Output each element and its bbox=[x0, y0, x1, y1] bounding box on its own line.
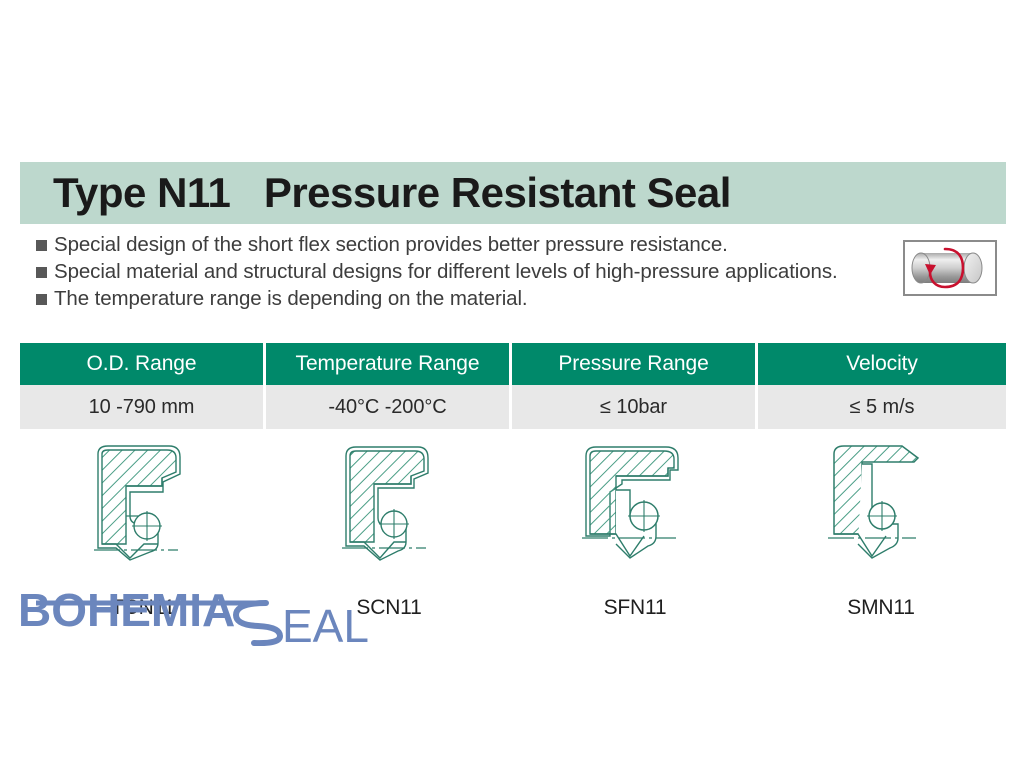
cell-velocity: ≤ 5 m/s bbox=[758, 385, 1006, 429]
list-item: Special material and structural designs … bbox=[36, 259, 886, 285]
list-item: Special design of the short flex section… bbox=[36, 232, 886, 258]
seal-cross-section-diagram-scn11 bbox=[314, 440, 464, 580]
column-header-velocity: Velocity bbox=[758, 343, 1006, 385]
feature-list: Special design of the short flex section… bbox=[36, 232, 886, 313]
table-header-row: O.D. Range Temperature Range Pressure Ra… bbox=[20, 343, 1006, 385]
column-header-od-range: O.D. Range bbox=[20, 343, 266, 385]
feature-text: Special design of the short flex section… bbox=[54, 232, 728, 258]
bullet-square-icon bbox=[36, 267, 47, 278]
feature-text: The temperature range is depending on th… bbox=[54, 286, 528, 312]
seal-label: TCN11 bbox=[111, 596, 175, 620]
seal-variant-tcn11: TCN11 bbox=[20, 440, 266, 620]
seal-diagram-gallery: TCN11 bbox=[20, 440, 1006, 620]
shaft-rotation-icon bbox=[903, 240, 997, 296]
page-title-bar: Type N11 Pressure Resistant Seal bbox=[20, 162, 1006, 224]
seal-cross-section-diagram-sfn11 bbox=[560, 440, 710, 580]
cell-temperature-range: -40°C -200°C bbox=[266, 385, 512, 429]
seal-variant-smn11: SMN11 bbox=[758, 440, 1004, 620]
specification-table: O.D. Range Temperature Range Pressure Ra… bbox=[20, 343, 1006, 429]
list-item: The temperature range is depending on th… bbox=[36, 286, 886, 312]
cell-pressure-range: ≤ 10bar bbox=[512, 385, 758, 429]
datasheet-page: Type N11 Pressure Resistant Seal Special… bbox=[0, 0, 1024, 768]
column-header-temperature-range: Temperature Range bbox=[266, 343, 512, 385]
bullet-square-icon bbox=[36, 294, 47, 305]
cell-od-range: 10 -790 mm bbox=[20, 385, 266, 429]
seal-cross-section-diagram-smn11 bbox=[806, 440, 956, 580]
column-header-pressure-range: Pressure Range bbox=[512, 343, 758, 385]
feature-text: Special material and structural designs … bbox=[54, 259, 838, 285]
page-title: Type N11 Pressure Resistant Seal bbox=[20, 172, 731, 214]
seal-label: SCN11 bbox=[356, 596, 421, 620]
table-row: 10 -790 mm -40°C -200°C ≤ 10bar ≤ 5 m/s bbox=[20, 385, 1006, 429]
seal-label: SFN11 bbox=[604, 596, 667, 620]
seal-label: SMN11 bbox=[847, 596, 914, 620]
bullet-square-icon bbox=[36, 240, 47, 251]
seal-variant-sfn11: SFN11 bbox=[512, 440, 758, 620]
seal-variant-scn11: SCN11 bbox=[266, 440, 512, 620]
seal-cross-section-diagram-tcn11 bbox=[68, 440, 218, 580]
